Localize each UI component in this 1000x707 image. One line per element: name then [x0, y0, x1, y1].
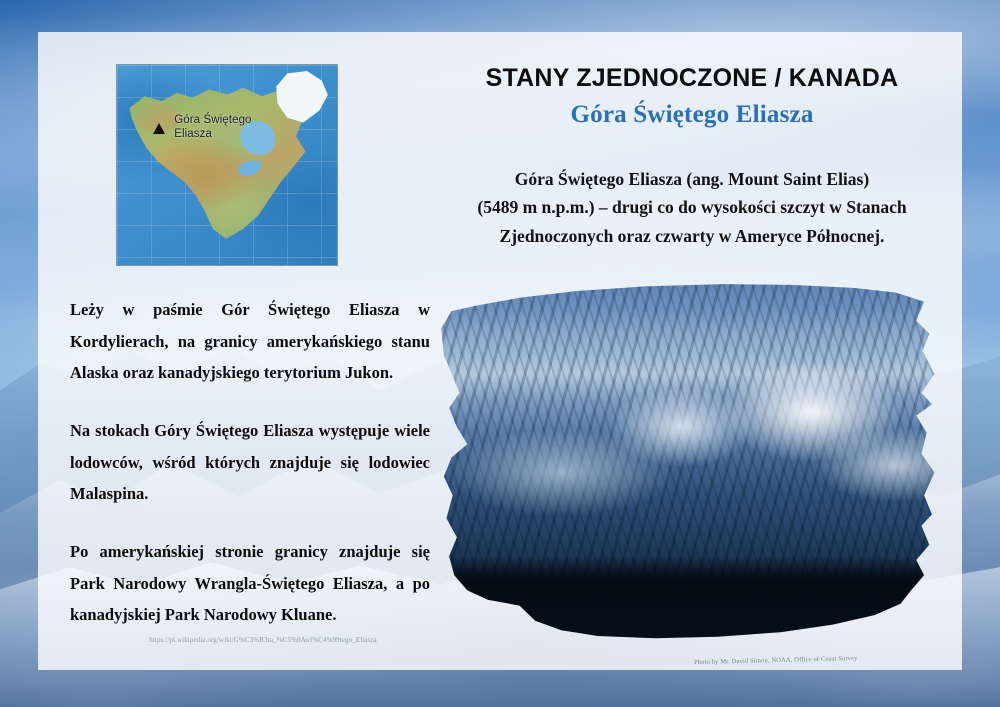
lead-line-1: Góra Świętego Eliasza (ang. Mount Saint …	[430, 165, 954, 193]
lead-line-3: Zjednoczonych oraz czwarty w Ameryce Pół…	[430, 222, 954, 250]
photo-credit-caption: Photo by Mr. David Simon, NOAA, Office o…	[694, 653, 944, 666]
body-paragraph-3: Po amerykańskiej stronie granicy znajduj…	[70, 536, 430, 631]
north-america-map-inset: Góra Świętego Eliasza	[116, 64, 338, 266]
map-peak-label-line2: Eliasza	[174, 128, 212, 140]
page-title: Góra Świętego Eliasza	[430, 101, 954, 129]
slide-root: Góra Świętego Eliasza STANY ZJEDNOCZONE …	[0, 0, 1000, 707]
lead-line-2: (5489 m n.p.m.) – drugi co do wysokości …	[430, 193, 954, 221]
content-panel: Góra Świętego Eliasza STANY ZJEDNOCZONE …	[38, 32, 962, 670]
map-peak-label-line1: Góra Świętego	[174, 114, 251, 126]
triangle-marker-icon	[153, 123, 165, 134]
map-peak-label: Góra Świętego Eliasza	[174, 114, 319, 141]
body-text-column: Leży w paśmie Gór Świętego Eliasza w Kor…	[70, 294, 430, 631]
header-block: STANY ZJEDNOCZONE / KANADA Góra Świętego…	[430, 64, 954, 250]
lead-paragraph: Góra Świętego Eliasza (ang. Mount Saint …	[430, 165, 954, 250]
mountain-photo-image	[436, 275, 958, 655]
mountain-photo: Photo by Mr. David Simon, NOAA, Office o…	[436, 275, 958, 655]
body-paragraph-1: Leży w paśmie Gór Świętego Eliasza w Kor…	[70, 294, 430, 389]
country-title: STANY ZJEDNOCZONE / KANADA	[430, 64, 954, 93]
body-paragraph-2: Na stokach Góry Świętego Eliasza występu…	[70, 415, 430, 510]
source-url-caption[interactable]: https://pl.wikipedia.org/wiki/G%C3%B3ra_…	[98, 636, 428, 644]
